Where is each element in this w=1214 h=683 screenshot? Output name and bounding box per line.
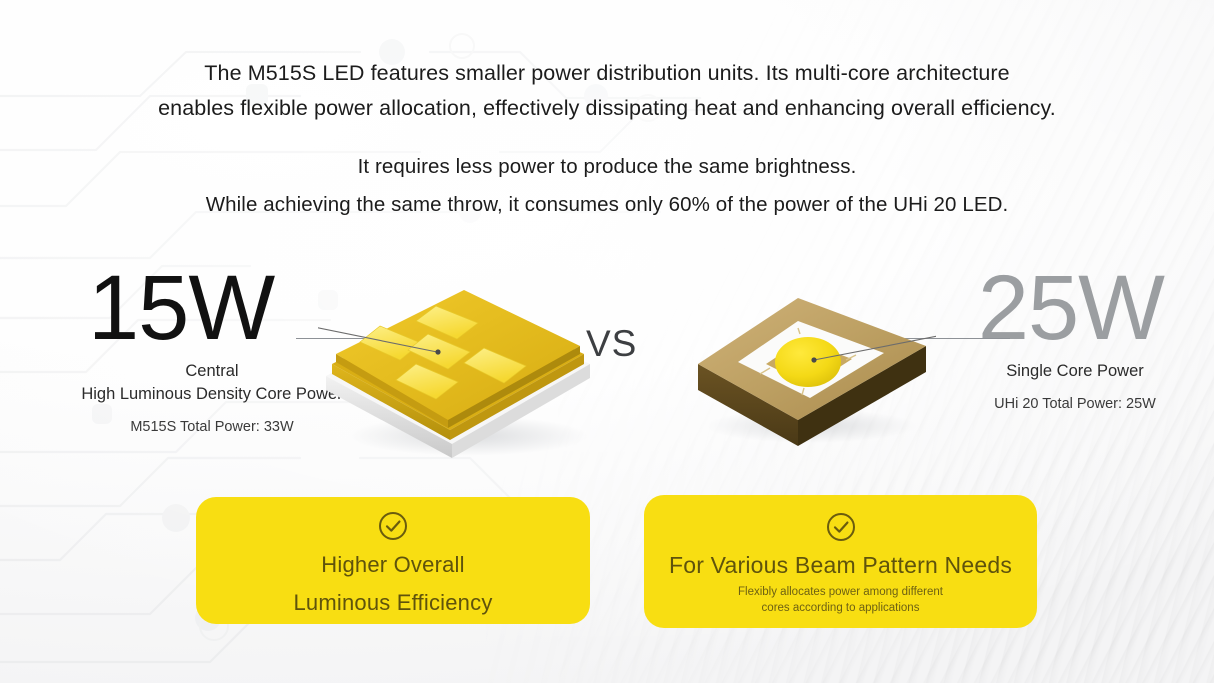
headline-line-2: enables flexible power allocation, effec…: [0, 91, 1214, 126]
multi-core-led-chip-icon: [318, 268, 598, 458]
subcopy-paragraph: It requires less power to produce the sa…: [0, 148, 1214, 224]
subcopy-line-1: It requires less power to produce the sa…: [0, 148, 1214, 186]
single-core-led-chip-icon: [686, 268, 936, 448]
badge-sub-line-1: Flexibly allocates power among different: [644, 584, 1037, 600]
check-circle-icon: [377, 510, 409, 542]
badge-sub-line-2: cores according to applications: [644, 600, 1037, 616]
badge-title-line-1: Higher Overall: [196, 550, 590, 580]
badge-title-line-1: For Various Beam Pattern Needs: [644, 550, 1037, 580]
left-wattage-value: 15W: [88, 262, 274, 354]
headline-line-1: The M515S LED features smaller power dis…: [0, 56, 1214, 91]
check-circle-icon: [825, 511, 857, 543]
subcopy-line-2: While achieving the same throw, it consu…: [0, 186, 1214, 224]
headline-paragraph: The M515S LED features smaller power dis…: [0, 56, 1214, 126]
right-wattage-value: 25W: [978, 262, 1164, 354]
promo-stage: The M515S LED features smaller power dis…: [0, 0, 1214, 683]
feature-badge-beam-pattern[interactable]: For Various Beam Pattern Needs Flexibly …: [644, 495, 1037, 628]
badge-title-line-2: Luminous Efficiency: [196, 588, 590, 618]
power-comparison-row: 15W 25W Central High Luminous Density Co…: [0, 262, 1214, 452]
feature-badge-efficiency[interactable]: Higher Overall Luminous Efficiency: [196, 497, 590, 624]
